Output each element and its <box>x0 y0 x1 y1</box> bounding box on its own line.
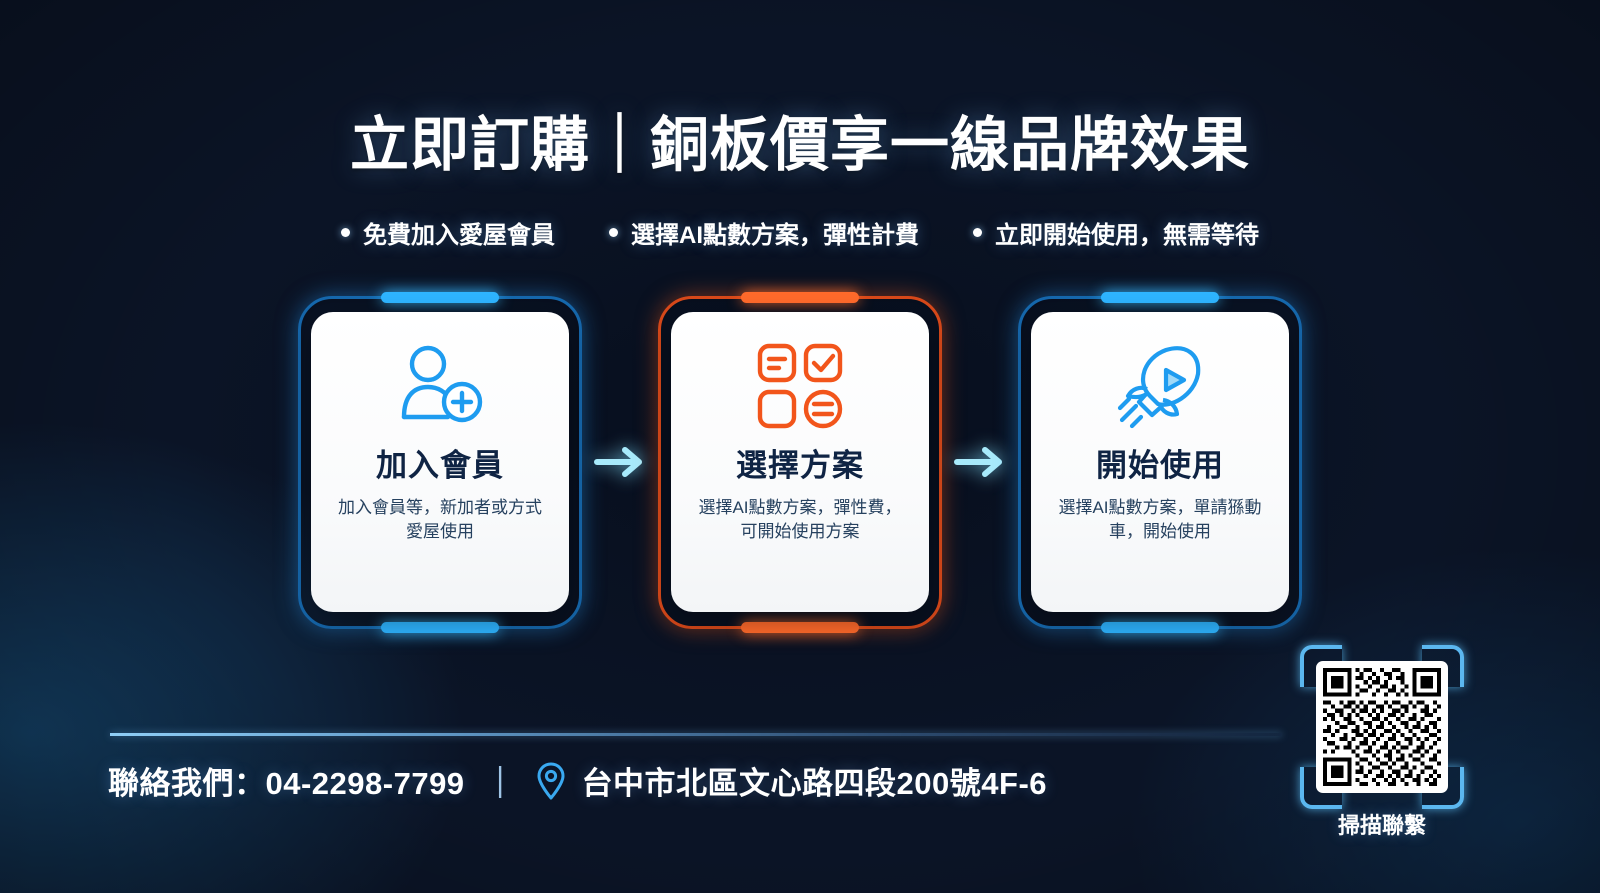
frame-accent-segment-bottom <box>741 622 859 633</box>
arrow-step2-to-step3 <box>942 296 1018 629</box>
step-title-2: 選擇方案 <box>736 440 864 485</box>
location-pin-icon <box>536 761 566 801</box>
step-card-frame-2: 選擇方案 選擇AI點數方案，彈性費，可開始使用方案 <box>658 296 942 629</box>
user-plus-icon <box>394 338 486 434</box>
options-grid-icon <box>757 338 843 434</box>
bullet-dot-icon <box>341 228 350 237</box>
benefit-label-2: 選擇AI點數方案，彈性計費 <box>631 215 919 250</box>
step-card-3[interactable]: 開始使用 選擇AI點數方案，單請猻動車，開始使用 <box>1031 312 1289 612</box>
page-title: 立即訂購｜銅板價享一線品牌效果 <box>0 97 1600 182</box>
benefit-label-3: 立即開始使用，無需等待 <box>995 215 1259 250</box>
step-desc-2: 選擇AI點數方案，彈性費，可開始使用方案 <box>695 496 905 544</box>
qr-caption: 掃描聯繫 <box>1300 808 1464 840</box>
benefit-item-3: 立即開始使用，無需等待 <box>973 215 1259 250</box>
frame-accent-segment-top <box>741 292 859 303</box>
footer-separator: ｜ <box>485 758 516 803</box>
footer-contact: 聯絡我們：04-2298-7799 ｜ 台中市北區文心路四段200號4F-6 <box>108 758 1047 803</box>
qr-code-icon <box>1316 661 1448 793</box>
bullet-dot-icon <box>609 228 618 237</box>
steps-row: 加入會員 加入會員等，新加者或方式愛屋使用 <box>0 292 1600 632</box>
footer-divider <box>110 733 1282 736</box>
qr-code-scan-frame[interactable] <box>1300 645 1464 809</box>
benefit-item-2: 選擇AI點數方案，彈性計費 <box>609 215 919 250</box>
benefit-item-1: 免費加入愛屋會員 <box>341 215 555 250</box>
step-card-2[interactable]: 選擇方案 選擇AI點數方案，彈性費，可開始使用方案 <box>671 312 929 612</box>
arrow-step1-to-step2 <box>582 296 658 629</box>
frame-accent-segment-top <box>381 292 499 303</box>
contact-phone-label: 聯絡我們：04-2298-7799 <box>108 758 465 803</box>
bullet-dot-icon <box>973 228 982 237</box>
step-card-frame-3: 開始使用 選擇AI點數方案，單請猻動車，開始使用 <box>1018 296 1302 629</box>
rocket-icon <box>1114 338 1206 434</box>
frame-accent-segment-bottom <box>1101 622 1219 633</box>
step-title-3: 開始使用 <box>1096 440 1224 485</box>
frame-accent-segment-bottom <box>381 622 499 633</box>
step-title-1: 加入會員 <box>376 440 504 485</box>
step-card-frame-1: 加入會員 加入會員等，新加者或方式愛屋使用 <box>298 296 582 629</box>
contact-address-label: 台中市北區文心路四段200號4F-6 <box>582 758 1047 803</box>
step-desc-1: 加入會員等，新加者或方式愛屋使用 <box>335 496 545 544</box>
benefit-label-1: 免費加入愛屋會員 <box>363 215 555 250</box>
frame-accent-segment-top <box>1101 292 1219 303</box>
step-card-1[interactable]: 加入會員 加入會員等，新加者或方式愛屋使用 <box>311 312 569 612</box>
step-desc-3: 選擇AI點數方案，單請猻動車，開始使用 <box>1055 496 1265 544</box>
benefits-list: 免費加入愛屋會員 選擇AI點數方案，彈性計費 立即開始使用，無需等待 <box>0 215 1600 250</box>
